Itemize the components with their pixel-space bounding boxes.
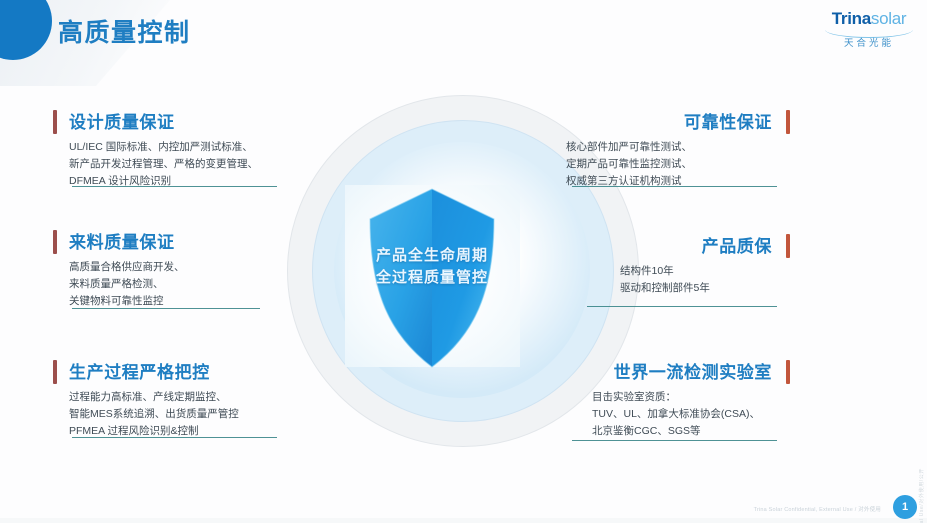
- info-block-product-warranty: 产品质保 结构件10年 驱动和控制部件5年: [550, 232, 790, 297]
- block-body: UL/IEC 国际标准、内控加严测试标准、 新产品开发过程管理、严格的变更管理、…: [69, 139, 285, 190]
- logo-brand-chinese: 天合光能: [825, 39, 913, 49]
- side-watermark: 对外使用/External Use/对外使用/公开: [918, 468, 925, 523]
- bottom-strip: [0, 518, 927, 523]
- accent-bar: [53, 360, 57, 384]
- info-block-design-quality: 设计质量保证 UL/IEC 国际标准、内控加严测试标准、 新产品开发过程管理、严…: [53, 108, 285, 190]
- accent-bar: [786, 360, 790, 384]
- block-body: 过程能力高标准、产线定期监控、 智能MES系统追溯、出货质量严管控 PFMEA …: [69, 389, 303, 440]
- accent-bar: [53, 110, 57, 134]
- shield-caption-line2: 全过程质量管控: [352, 267, 512, 289]
- logo-swoosh-icon: [825, 28, 913, 38]
- divider-warranty: [587, 306, 777, 307]
- block-body: 核心部件加严可靠性测试、 定期产品可靠性监控测试、 权威第三方认证机构测试: [550, 139, 772, 190]
- block-heading: 产品质保: [550, 232, 772, 257]
- block-heading: 生产过程严格把控: [69, 358, 303, 383]
- divider-incoming: [72, 308, 260, 309]
- block-heading: 来料质量保证: [69, 228, 285, 253]
- info-block-testing-laboratory: 世界一流检测实验室 目击实验室资质： TUV、UL、加拿大标准协会(CSA)、 …: [540, 358, 790, 440]
- accent-bar: [786, 234, 790, 258]
- accent-bar: [53, 230, 57, 254]
- divider-laboratory: [572, 440, 777, 441]
- divider-reliability: [572, 186, 777, 187]
- accent-bar: [786, 110, 790, 134]
- info-block-production-process: 生产过程严格把控 过程能力高标准、产线定期监控、 智能MES系统追溯、出货质量严…: [53, 358, 303, 440]
- divider-process: [72, 437, 277, 438]
- shield-caption: 产品全生命周期 全过程质量管控: [352, 245, 512, 289]
- block-body: 结构件10年 驱动和控制部件5年: [550, 263, 772, 297]
- block-body: 高质量合格供应商开发、 来料质量严格检测、 关键物料可靠性监控: [69, 259, 285, 310]
- block-heading: 世界一流检测实验室: [540, 358, 772, 383]
- shield-caption-line1: 产品全生命周期: [352, 245, 512, 267]
- divider-design: [72, 186, 277, 187]
- slide-canvas: 高质量控制 Trinasolar 天合光能: [0, 0, 927, 523]
- info-block-reliability: 可靠性保证 核心部件加严可靠性测试、 定期产品可靠性监控测试、 权威第三方认证机…: [550, 108, 790, 190]
- logo-brand-solar: solar: [871, 9, 906, 28]
- logo-wordmark: Trinasolar: [825, 10, 913, 27]
- confidential-notice: Trina Solar Confidential, External Use /…: [754, 505, 881, 513]
- block-heading: 设计质量保证: [69, 108, 285, 133]
- block-body: 目击实验室资质： TUV、UL、加拿大标准协会(CSA)、 北京鉴衡CGC、SG…: [540, 389, 772, 440]
- block-heading: 可靠性保证: [550, 108, 772, 133]
- logo-brand-trina: Trina: [832, 9, 871, 28]
- trina-solar-logo: Trinasolar 天合光能: [825, 10, 913, 49]
- page-number-badge: 1: [893, 495, 917, 519]
- info-block-incoming-material: 来料质量保证 高质量合格供应商开发、 来料质量严格检测、 关键物料可靠性监控: [53, 228, 285, 310]
- page-title: 高质量控制: [58, 13, 191, 49]
